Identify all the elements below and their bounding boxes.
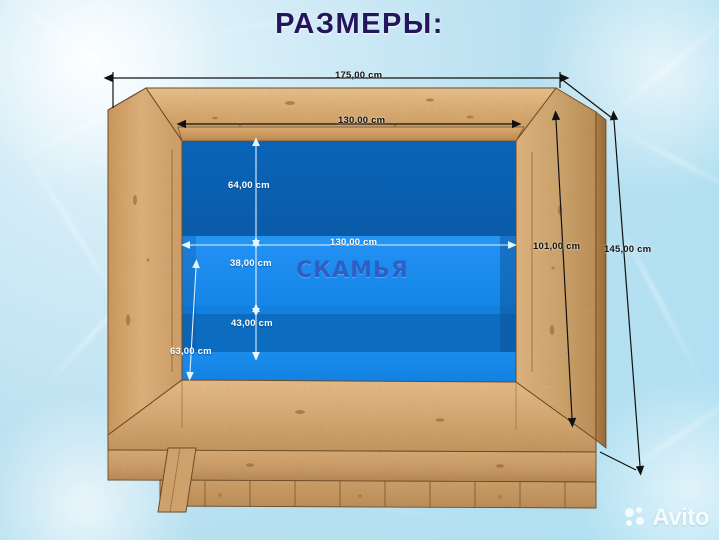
dim-label-top-outer-width: 175,00 cm — [335, 70, 382, 81]
coping-right-side — [596, 112, 606, 448]
dim-label-back-wall-depth: 64,00 cm — [228, 180, 270, 191]
pool-floor — [182, 352, 516, 382]
bench-label: СКАМЬЯ — [296, 258, 409, 283]
front-plank-band-grain — [160, 480, 596, 508]
dim-145-line — [614, 120, 640, 466]
dim-label-top-inner-width: 130,00 cm — [338, 115, 385, 126]
coping-left-grain — [108, 88, 182, 435]
dim-145-ext-bottom — [600, 452, 636, 470]
dim-label-bench-depth: 38,00 cm — [230, 258, 272, 269]
coping-right-grain — [516, 88, 596, 440]
page-title: РАЗМЕРЫ: — [0, 8, 719, 41]
coping-front-grain — [108, 380, 596, 452]
dim-label-side-outer: 145,00 cm — [604, 244, 651, 255]
dim-label-inner-height: 63,00 cm — [170, 346, 212, 357]
bench-corner-shadow-left — [182, 236, 196, 352]
coping-back-lip — [178, 127, 524, 141]
dim-label-front-depth: 43,00 cm — [231, 318, 273, 329]
bench-front-lip — [182, 306, 516, 314]
avito-dots-icon — [625, 507, 647, 529]
avito-brand-text: Avito — [652, 504, 709, 532]
dim-label-side-inner: 101,00 cm — [533, 241, 580, 252]
bench-corner-shadow — [500, 236, 516, 352]
dim-label-bench-width: 130,00 cm — [330, 237, 377, 248]
avito-watermark: Avito — [625, 504, 709, 532]
